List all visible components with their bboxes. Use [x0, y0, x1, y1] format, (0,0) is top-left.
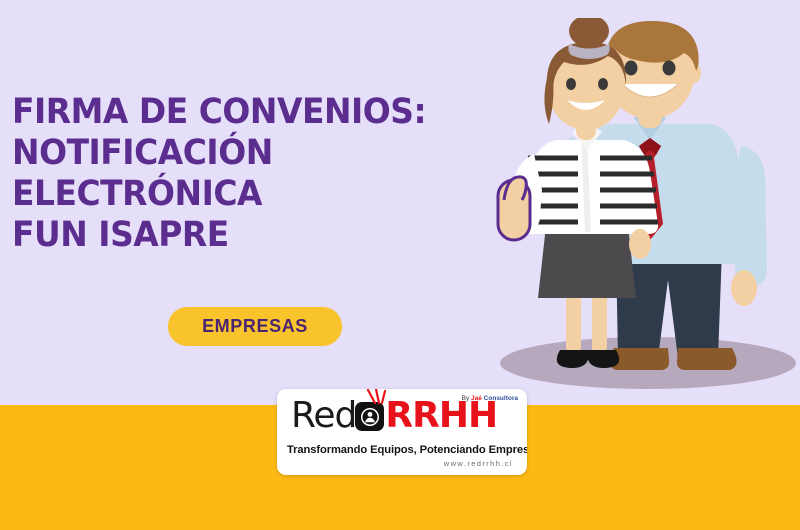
logo-wordmark: Red RRHH	[291, 398, 497, 434]
logo-by-brand: Jaé	[471, 395, 482, 402]
empresas-button[interactable]: EMPRESAS	[168, 307, 342, 346]
headline-line-1: FIRMA DE CONVENIOS:	[12, 92, 454, 133]
logo-tagline: Transformando Equipos, Potenciando Empre…	[287, 444, 519, 456]
logo-card[interactable]: Red RRHH By Jaé Consultora	[277, 389, 527, 475]
headline-line-3: ELECTRÓNICA	[12, 174, 454, 215]
logo-by-suffix: Consultora	[482, 395, 518, 402]
illustration-two-people-thumbs-up	[488, 18, 800, 398]
headline-line-2: NOTIFICACIÓN	[12, 133, 454, 174]
promo-poster: FIRMA DE CONVENIOS: NOTIFICACIÓN ELECTRÓ…	[0, 0, 800, 530]
logo-by-prefix: By	[462, 395, 471, 402]
headline-line-4: FUN ISAPRE	[12, 215, 454, 256]
logo-by-line: By Jaé Consultora	[462, 395, 518, 402]
logo-speed-lines-icon	[365, 389, 391, 405]
logo-word-rrhh: RRHH	[385, 398, 497, 434]
logo-person-mark-icon	[355, 402, 384, 431]
logo-word-red: Red	[291, 398, 356, 434]
headline: FIRMA DE CONVENIOS: NOTIFICACIÓN ELECTRÓ…	[12, 92, 482, 256]
empresas-button-label: EMPRESAS	[202, 316, 308, 337]
logo-website-url[interactable]: www.redrrhh.cl	[444, 459, 513, 468]
